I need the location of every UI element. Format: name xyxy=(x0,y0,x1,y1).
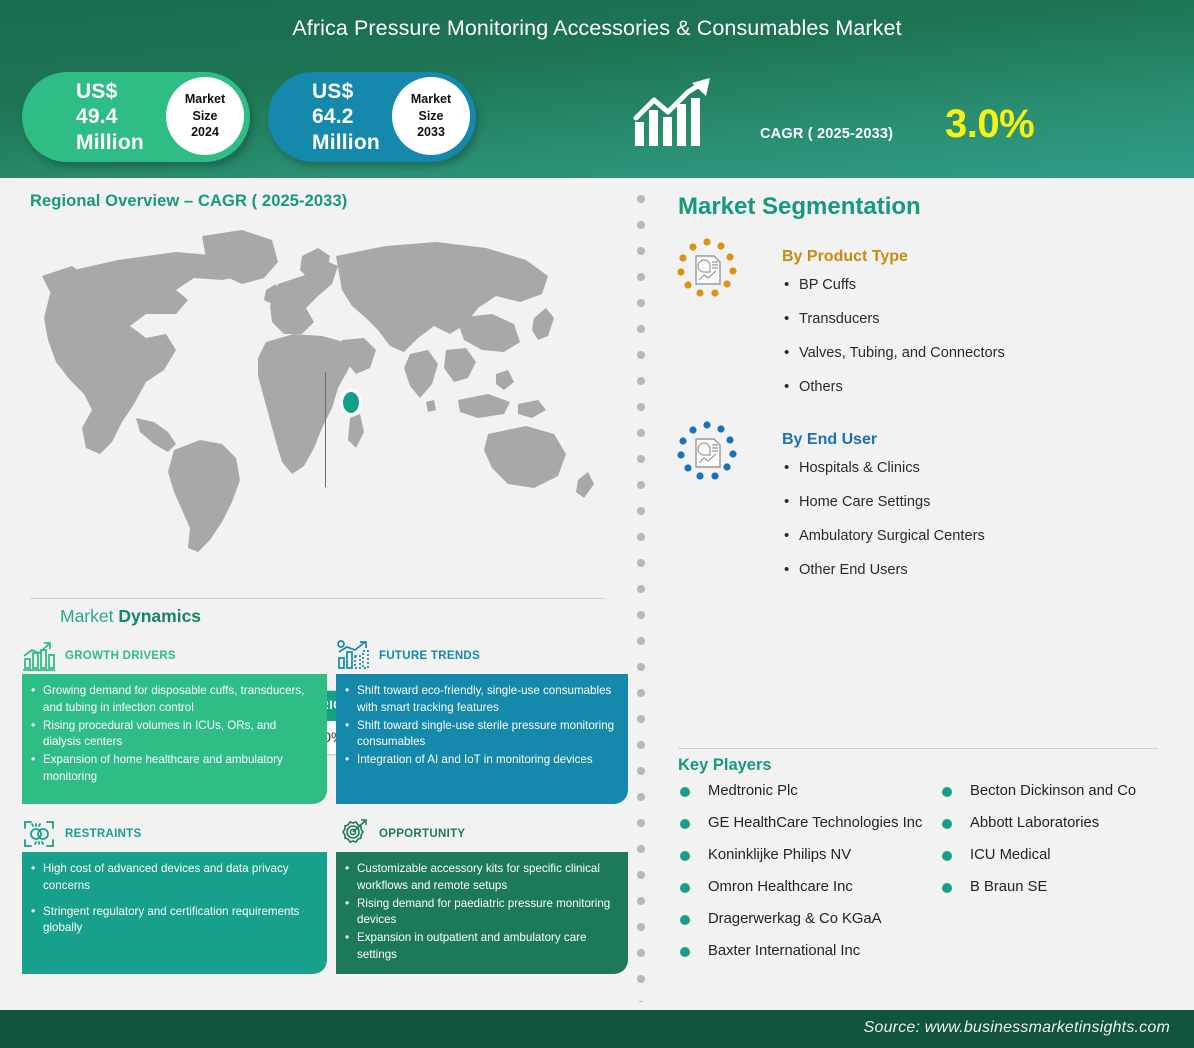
list-item: Baxter International Inc xyxy=(678,942,926,961)
list-item: Growing demand for disposable cuffs, tra… xyxy=(30,683,317,717)
list-item: Ambulatory Surgical Centers xyxy=(782,527,985,547)
market-size-2024-badge: Market Size 2024 xyxy=(166,77,244,155)
dynamics-growth-drivers: GROWTH DRIVERS Growing demand for dispos… xyxy=(22,638,327,804)
header-banner: Africa Pressure Monitoring Accessories &… xyxy=(0,0,1194,178)
growth-drivers-header: GROWTH DRIVERS xyxy=(22,638,327,674)
pin-connector-line xyxy=(325,372,326,487)
badge-line-1: Market xyxy=(185,91,225,108)
key-players-column-right: Becton Dickinson and Co Abbott Laborator… xyxy=(940,782,1188,974)
list-item: ICU Medical xyxy=(940,846,1188,865)
unit-label: Million xyxy=(312,130,380,156)
restraints-header: RESTRAINTS xyxy=(22,816,327,852)
cagr-value: 3.0% xyxy=(945,102,1034,147)
growth-drivers-label: GROWTH DRIVERS xyxy=(65,650,176,662)
market-size-2024-text: US$ 49.4 Million xyxy=(76,79,144,156)
list-item: Omron Healthcare Inc xyxy=(678,878,926,897)
segment-heading: By End User xyxy=(782,431,877,449)
list-item: Becton Dickinson and Co xyxy=(940,782,1188,801)
left-panel: Regional Overview – CAGR ( 2025-2033) xyxy=(0,178,630,1010)
opportunity-label: OPPORTUNITY xyxy=(379,828,465,840)
list-item: Expansion in outpatient and ambulatory c… xyxy=(344,930,618,964)
future-trends-chart-icon xyxy=(336,640,370,672)
badge-line-1: Market xyxy=(411,91,451,108)
restraints-list: High cost of advanced devices and data p… xyxy=(30,861,317,937)
growth-chart-icon xyxy=(22,640,56,672)
title-bold: Dynamics xyxy=(118,606,201,626)
list-item: Rising procedural volumes in ICUs, ORs, … xyxy=(30,718,317,752)
regional-overview-title: Regional Overview – CAGR ( 2025-2033) xyxy=(30,192,347,211)
report-document-blue-icon xyxy=(676,421,738,483)
list-item: Others xyxy=(782,378,1005,398)
restraints-body: High cost of advanced devices and data p… xyxy=(22,852,327,974)
list-item: Dragerwerkag & Co KGaA xyxy=(678,910,926,929)
value-label: 49.4 xyxy=(76,104,144,130)
infographic-page: Africa Pressure Monitoring Accessories &… xyxy=(0,0,1194,1048)
list-item: Transducers xyxy=(782,310,1005,330)
dynamics-divider xyxy=(30,598,605,599)
footer-bar: Source: www.businessmarketinsights.com xyxy=(0,1010,1194,1048)
badge-line-2: Size xyxy=(192,108,217,125)
growth-drivers-body: Growing demand for disposable cuffs, tra… xyxy=(22,674,327,804)
market-segmentation-title: Market Segmentation xyxy=(678,193,921,221)
list-item: Shift toward single-use sterile pressure… xyxy=(344,718,618,752)
list-item: Other End Users xyxy=(782,561,985,581)
list-item: BP Cuffs xyxy=(782,276,1005,296)
segment-items-list: Hospitals & Clinics Home Care Settings A… xyxy=(782,459,985,594)
title-light: Market xyxy=(60,606,118,626)
segment-items-list: BP Cuffs Transducers Valves, Tubing, and… xyxy=(782,276,1005,411)
list-item: Shift toward eco-friendly, single-use co… xyxy=(344,683,618,717)
list-item: GE HealthCare Technologies Inc xyxy=(678,814,926,833)
opportunity-header: OPPORTUNITY xyxy=(336,816,628,852)
growth-bar-chart-arrow-icon xyxy=(632,76,722,148)
badge-line-3: 2033 xyxy=(417,124,445,141)
growth-drivers-list: Growing demand for disposable cuffs, tra… xyxy=(30,683,317,786)
list-item: Integration of AI and IoT in monitoring … xyxy=(344,752,618,769)
report-document-orange-icon xyxy=(676,238,738,300)
list-item: Medtronic Plc xyxy=(678,782,926,801)
opportunity-list: Customizable accessory kits for specific… xyxy=(344,861,618,964)
market-size-2033-badge: Market Size 2033 xyxy=(392,77,470,155)
market-size-2024-pill: US$ 49.4 Million Market Size 2024 xyxy=(22,72,250,162)
list-item: Abbott Laboratories xyxy=(940,814,1188,833)
future-trends-body: Shift toward eco-friendly, single-use co… xyxy=(336,674,628,804)
list-item: Koninklijke Philips NV xyxy=(678,846,926,865)
list-item: Stringent regulatory and certification r… xyxy=(30,904,317,938)
list-item: Customizable accessory kits for specific… xyxy=(344,861,618,895)
badge-line-2: Size xyxy=(418,108,443,125)
currency-label: US$ xyxy=(76,79,144,105)
market-dynamics-title: Market Dynamics xyxy=(60,606,201,627)
map-pin-icon xyxy=(340,389,362,416)
dynamics-opportunity: OPPORTUNITY Customizable accessory kits … xyxy=(336,816,628,974)
list-item: High cost of advanced devices and data p… xyxy=(30,861,317,895)
world-map xyxy=(26,222,626,572)
source-text: Source: www.businessmarketinsights.com xyxy=(864,1019,1170,1037)
market-size-2033-pill: US$ 64.2 Million Market Size 2033 xyxy=(268,72,476,162)
segment-heading: By Product Type xyxy=(782,248,908,266)
restraints-label: RESTRAINTS xyxy=(65,828,141,840)
opportunity-body: Customizable accessory kits for specific… xyxy=(336,852,628,974)
gear-target-arrow-icon xyxy=(336,818,370,850)
cagr-label: CAGR ( 2025-2033) xyxy=(760,126,893,142)
key-players-columns: Medtronic Plc GE HealthCare Technologies… xyxy=(678,782,1188,974)
list-item: Home Care Settings xyxy=(782,493,985,513)
key-players-title: Key Players xyxy=(678,756,772,775)
market-size-2033-text: US$ 64.2 Million xyxy=(312,79,380,156)
dynamics-restraints: RESTRAINTS High cost of advanced devices… xyxy=(22,816,327,974)
dynamics-future-trends: FUTURE TRENDS Shift toward eco-friendly,… xyxy=(336,638,628,804)
list-item: B Braun SE xyxy=(940,878,1188,897)
key-players-divider xyxy=(678,748,1158,749)
list-item: Expansion of home healthcare and ambulat… xyxy=(30,752,317,786)
list-item: Rising demand for paediatric pressure mo… xyxy=(344,896,618,930)
right-panel: Market Segmentation xyxy=(660,178,1194,1010)
unit-label: Million xyxy=(76,130,144,156)
currency-label: US$ xyxy=(312,79,380,105)
list-item: Hospitals & Clinics xyxy=(782,459,985,479)
future-trends-list: Shift toward eco-friendly, single-use co… xyxy=(344,683,618,769)
page-title: Africa Pressure Monitoring Accessories &… xyxy=(0,16,1194,41)
chain-link-restraint-icon xyxy=(22,818,56,850)
value-label: 64.2 xyxy=(312,104,380,130)
future-trends-header: FUTURE TRENDS xyxy=(336,638,628,674)
key-players-column-left: Medtronic Plc GE HealthCare Technologies… xyxy=(678,782,926,974)
future-trends-label: FUTURE TRENDS xyxy=(379,650,480,662)
badge-line-3: 2024 xyxy=(191,124,219,141)
vertical-dotted-divider xyxy=(637,190,645,1002)
list-item: Valves, Tubing, and Connectors xyxy=(782,344,1005,364)
